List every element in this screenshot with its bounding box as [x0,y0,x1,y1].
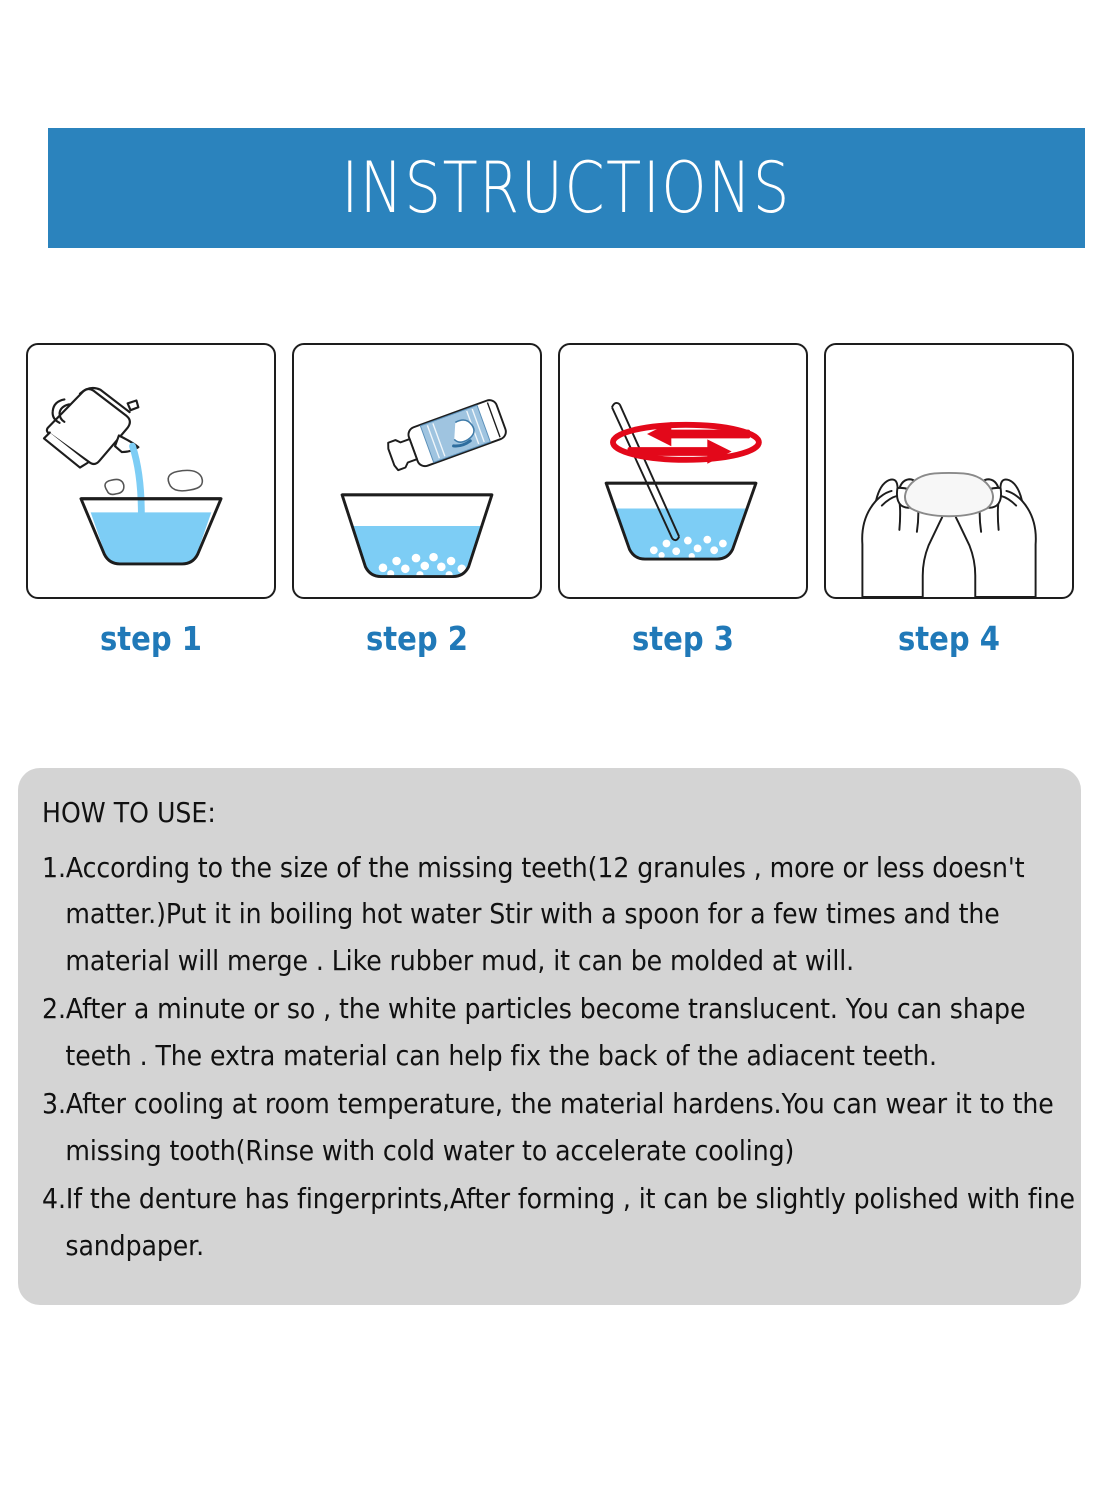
step-illustration-box-1 [26,343,276,599]
step-illustration-box-2 [292,343,542,599]
how-to-use-item: 2.After a minute or so , the white parti… [42,986,1095,1079]
step-cell-3: step 3 [550,343,816,658]
how-to-use-item: 4.If the denture has fingerprints,After … [42,1176,1095,1269]
step-illustration-box-4 [824,343,1074,599]
how-to-use-item: 3.After cooling at room temperature, the… [42,1081,1095,1174]
step-label-3: step 3 [632,619,734,658]
bottle-pouring-granules-icon [294,345,540,597]
step-cell-2: step 2 [284,343,550,658]
stirring-motion-icon [560,345,806,597]
step-cell-4: step 4 [816,343,1082,658]
steps-strip: step 1 [18,343,1082,658]
step-label-2: step 2 [366,619,468,658]
how-to-use-panel: HOW TO USE: 1.According to the size of t… [18,768,1081,1305]
step-label-4: step 4 [898,619,1000,658]
page-title: INSTRUCTIONS [342,153,792,223]
step-label-1: step 1 [100,619,202,658]
how-to-use-item: 1.According to the size of the missing t… [42,845,1095,984]
step-illustration-box-3 [558,343,808,599]
how-to-use-heading: HOW TO USE: [42,796,963,829]
hands-molding-material-icon [826,345,1072,597]
instructions-header-banner: INSTRUCTIONS [48,128,1085,248]
kettle-pouring-water-icon [28,345,274,597]
step-cell-1: step 1 [18,343,284,658]
